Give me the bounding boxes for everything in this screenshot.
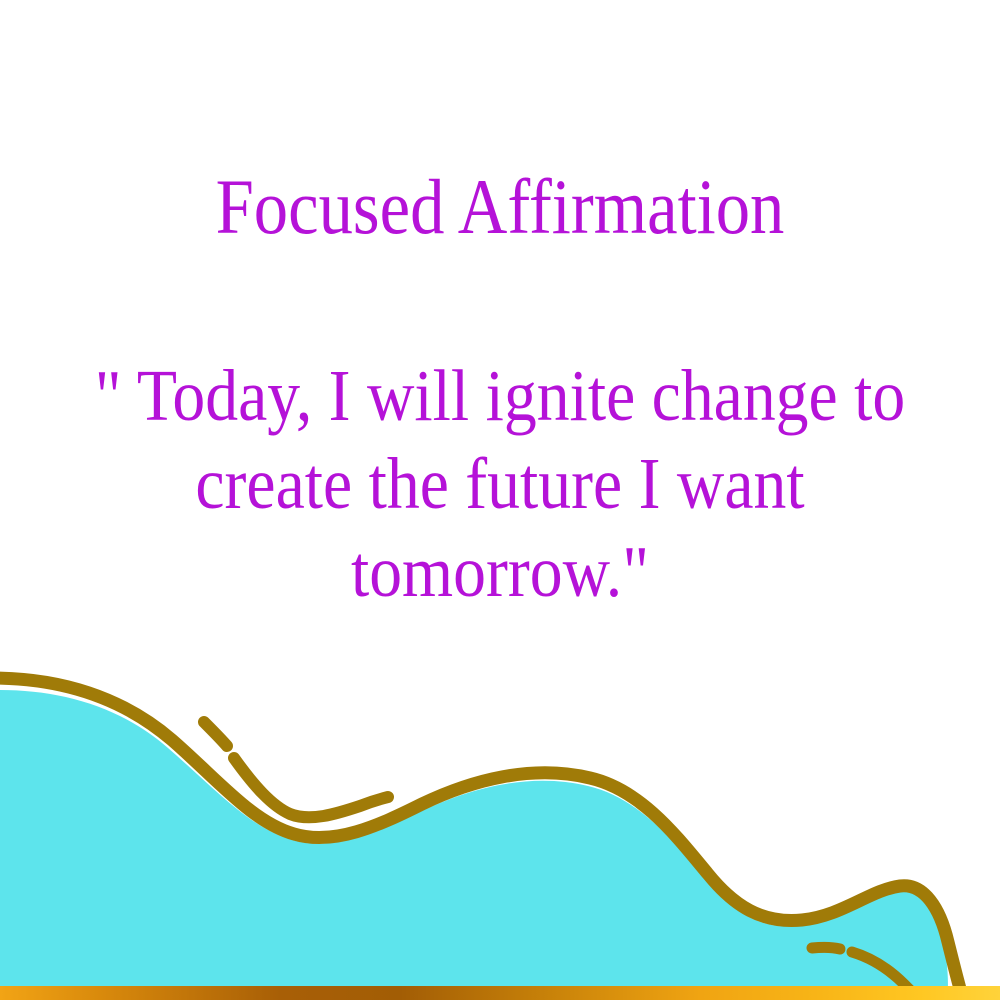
affirmation-poster: Focused Affirmation " Today, I will igni… [0,0,1000,1000]
gold-dashed-accent-left-dash [204,722,227,746]
quote-line-1: " Today, I will ignite change to [66,352,934,440]
gold-dashed-accent-left-stroke [234,758,388,817]
gold-wave-outline [0,678,962,996]
gold-dashed-accent-right-stroke [852,952,922,1000]
cyan-wave-fill [0,690,948,988]
gold-dashed-accent-right-dash [812,947,840,949]
quote-line-3: tomorrow." [66,528,934,616]
page-title: Focused Affirmation [60,168,940,246]
affirmation-quote: " Today, I will ignite change to create … [66,352,934,616]
gold-gradient-bottom-bar [0,986,1000,1000]
quote-line-2: create the future I want [66,440,934,528]
text-content: Focused Affirmation " Today, I will igni… [0,0,1000,660]
